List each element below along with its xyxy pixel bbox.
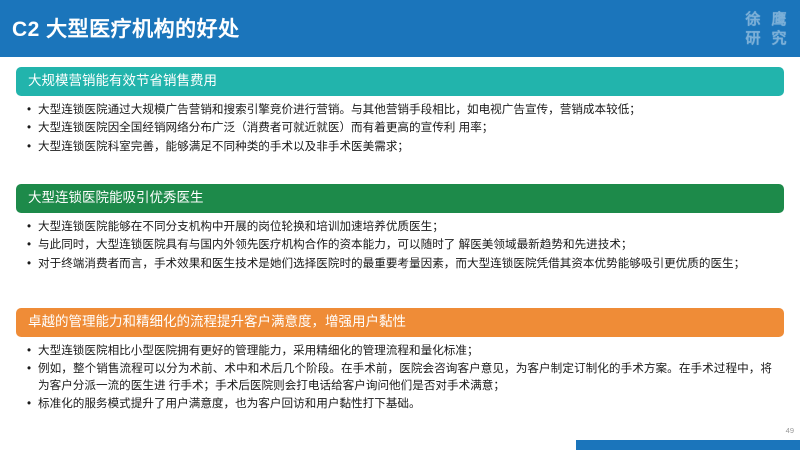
list-item: •例如，整个销售流程可以分为术前、术中和术后几个阶段。在手术前，医院会咨询客户意… xyxy=(0,361,800,394)
company-logo-watermark: 徐 鹰 研 究 xyxy=(740,7,792,51)
list-item: •大型连锁医院相比小型医院拥有更好的管理能力，采用精细化的管理流程和量化标准； xyxy=(0,343,800,359)
list-item: •大型连锁医院通过大规模广告营销和搜索引擎竞价进行营销。与其他营销手段相比，如电… xyxy=(0,102,800,118)
section-marketing-cost: 大规模营销能有效节省销售费用 •大型连锁医院通过大规模广告营销和搜索引擎竞价进行… xyxy=(0,67,800,157)
section-management-satisfaction: 卓越的管理能力和精细化的流程提升客户满意度，增强用户黏性 •大型连锁医院相比小型… xyxy=(0,308,800,415)
list-item-text: 例如，整个销售流程可以分为术前、术中和术后几个阶段。在手术前，医院会咨询客户意见… xyxy=(38,362,772,391)
list-item: •与此同时，大型连锁医院具有与国内外领先医疗机构合作的资本能力，可以随时了 解医… xyxy=(0,237,800,253)
list-item: •大型连锁医院因全国经销网络分布广泛（消费者可就近就医）而有着更高的宣传利 用率… xyxy=(0,120,800,136)
section-heading: 大规模营销能有效节省销售费用 xyxy=(16,67,784,96)
logo-char-2: 鹰 xyxy=(766,10,792,29)
slide: C2 大型医疗机构的好处 徐 鹰 研 究 大规模营销能有效节省销售费用 •大型连… xyxy=(0,0,800,450)
list-item-text: 大型连锁医院相比小型医院拥有更好的管理能力，采用精细化的管理流程和量化标准； xyxy=(38,344,479,357)
logo-char-4: 究 xyxy=(766,29,792,48)
logo-char-1: 徐 xyxy=(740,10,766,29)
slide-footer-bar xyxy=(576,440,800,450)
page-number: 49 xyxy=(786,426,794,435)
bullet-dot-icon: • xyxy=(27,139,31,155)
bullet-dot-icon: • xyxy=(27,256,31,272)
bullet-dot-icon: • xyxy=(27,396,31,412)
section-bullet-list: •大型连锁医院相比小型医院拥有更好的管理能力，采用精细化的管理流程和量化标准； … xyxy=(0,343,800,413)
list-item-text: 大型连锁医院因全国经销网络分布广泛（消费者可就近就医）而有着更高的宣传利 用率； xyxy=(38,121,493,134)
list-item: •大型连锁医院科室完善，能够满足不同种类的手术以及非手术医美需求； xyxy=(0,139,800,155)
list-item-text: 对于终端消费者而言，手术效果和医生技术是她们选择医院时的最重要考量因素，而大型连… xyxy=(38,257,745,270)
page-title: C2 大型医疗机构的好处 xyxy=(12,13,240,43)
section-heading: 大型连锁医院能吸引优秀医生 xyxy=(16,184,784,213)
section-bullet-list: •大型连锁医院能够在不同分支机构中开展的岗位轮换和培训加速培养优质医生； •与此… xyxy=(0,219,800,272)
bullet-dot-icon: • xyxy=(27,102,31,118)
logo-char-3: 研 xyxy=(740,29,766,48)
list-item-text: 大型连锁医院通过大规模广告营销和搜索引擎竞价进行营销。与其他营销手段相比，如电视… xyxy=(38,103,641,116)
section-bullet-list: •大型连锁医院通过大规模广告营销和搜索引擎竞价进行营销。与其他营销手段相比，如电… xyxy=(0,102,800,155)
list-item-text: 与此同时，大型连锁医院具有与国内外领先医疗机构合作的资本能力，可以随时了 解医美… xyxy=(38,238,633,251)
section-heading: 卓越的管理能力和精细化的流程提升客户满意度，增强用户黏性 xyxy=(16,308,784,337)
list-item-text: 大型连锁医院科室完善，能够满足不同种类的手术以及非手术医美需求； xyxy=(38,140,409,153)
list-item-text: 标准化的服务模式提升了用户满意度，也为客户回访和用户黏性打下基础。 xyxy=(38,397,421,410)
section-attract-doctors: 大型连锁医院能吸引优秀医生 •大型连锁医院能够在不同分支机构中开展的岗位轮换和培… xyxy=(0,184,800,274)
list-item: •大型连锁医院能够在不同分支机构中开展的岗位轮换和培训加速培养优质医生； xyxy=(0,219,800,235)
slide-header-bar: C2 大型医疗机构的好处 徐 鹰 研 究 xyxy=(0,0,800,57)
list-item: •标准化的服务模式提升了用户满意度，也为客户回访和用户黏性打下基础。 xyxy=(0,396,800,412)
bullet-dot-icon: • xyxy=(27,343,31,359)
bullet-dot-icon: • xyxy=(27,120,31,136)
list-item: •对于终端消费者而言，手术效果和医生技术是她们选择医院时的最重要考量因素，而大型… xyxy=(0,256,800,272)
slide-content: 大规模营销能有效节省销售费用 •大型连锁医院通过大规模广告营销和搜索引擎竞价进行… xyxy=(0,57,800,437)
bullet-dot-icon: • xyxy=(27,361,31,377)
bullet-dot-icon: • xyxy=(27,237,31,253)
list-item-text: 大型连锁医院能够在不同分支机构中开展的岗位轮换和培训加速培养优质医生； xyxy=(38,220,444,233)
bullet-dot-icon: • xyxy=(27,219,31,235)
